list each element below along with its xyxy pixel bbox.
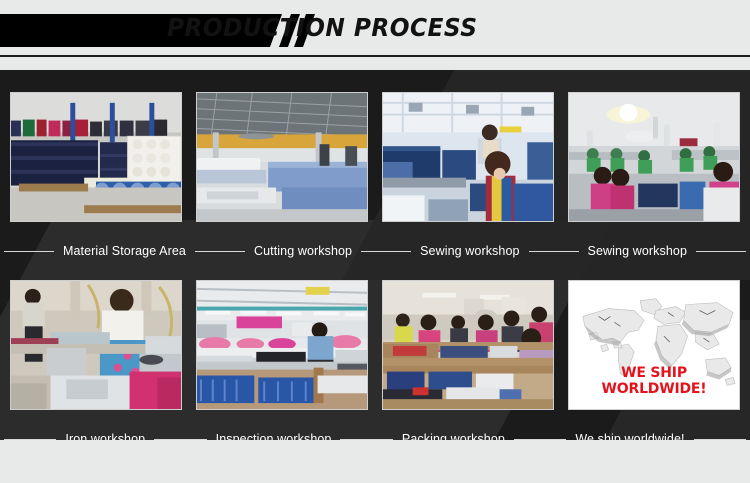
row-2-spacer: [0, 266, 750, 280]
gallery-cell-sewing-workshop-1[interactable]: [382, 92, 554, 222]
caption-line: [694, 439, 746, 440]
gallery-cell-iron-workshop[interactable]: [10, 280, 182, 410]
row-2-bottom-spacer: [0, 410, 750, 424]
caption-row-2: Iron workshop Inspection workshop Packin…: [0, 424, 750, 440]
caption-we-ship-worldwide: We ship worldwide!: [566, 432, 693, 440]
caption-cutting-workshop: Cutting workshop: [245, 244, 361, 258]
gallery-row-2: WE SHIP WORLDWIDE!: [0, 280, 750, 410]
sewing-workshop-photo-2[interactable]: [568, 92, 740, 222]
caption-packing-workshop: Packing workshop: [393, 432, 514, 440]
caption-line: [4, 251, 54, 252]
grid-top-spacer: [0, 70, 750, 92]
gallery-cell-sewing-workshop-2[interactable]: [568, 92, 740, 222]
caption-line: [340, 439, 392, 440]
caption-material-storage-area: Material Storage Area: [54, 244, 195, 258]
caption-row-1: Material Storage Area Cutting workshop S…: [0, 236, 750, 266]
caption-line: [361, 251, 411, 252]
caption-line: [514, 439, 566, 440]
caption-line: [195, 251, 245, 252]
process-gallery-panel: Material Storage Area Cutting workshop S…: [0, 70, 750, 440]
caption-line: [529, 251, 579, 252]
caption-sewing-workshop-2: Sewing workshop: [579, 244, 696, 258]
caption-line: [696, 251, 746, 252]
we-ship-worldwide-text: WE SHIP WORLDWIDE!: [569, 365, 739, 397]
production-process-page: PRODUCTION PROCESS: [0, 0, 750, 483]
material-storage-photo[interactable]: [10, 92, 182, 222]
caption-line: [154, 439, 206, 440]
packing-workshop-photo[interactable]: [382, 280, 554, 410]
gallery-cell-material-storage[interactable]: [10, 92, 182, 222]
process-grid: Material Storage Area Cutting workshop S…: [0, 70, 750, 440]
page-title: PRODUCTION PROCESS: [167, 13, 477, 42]
caption-inspection-workshop: Inspection workshop: [207, 432, 341, 440]
world-map-graphic[interactable]: WE SHIP WORLDWIDE!: [568, 280, 740, 410]
caption-line: [4, 439, 56, 440]
gallery-cell-cutting-workshop[interactable]: [196, 92, 368, 222]
gallery-cell-inspection-workshop[interactable]: [196, 280, 368, 410]
page-header: PRODUCTION PROCESS: [0, 0, 750, 56]
header-divider: [0, 55, 750, 57]
page-footer: [0, 440, 750, 483]
caption-iron-workshop: Iron workshop: [56, 432, 154, 440]
gallery-row-1: [0, 92, 750, 222]
caption-sewing-workshop-1: Sewing workshop: [411, 244, 528, 258]
sewing-workshop-photo-1[interactable]: [382, 92, 554, 222]
iron-workshop-photo[interactable]: [10, 280, 182, 410]
gallery-cell-packing-workshop[interactable]: [382, 280, 554, 410]
gallery-cell-we-ship-worldwide[interactable]: WE SHIP WORLDWIDE!: [568, 280, 740, 410]
inspection-workshop-photo[interactable]: [196, 280, 368, 410]
cutting-workshop-photo[interactable]: [196, 92, 368, 222]
row-1-spacer: [0, 222, 750, 236]
